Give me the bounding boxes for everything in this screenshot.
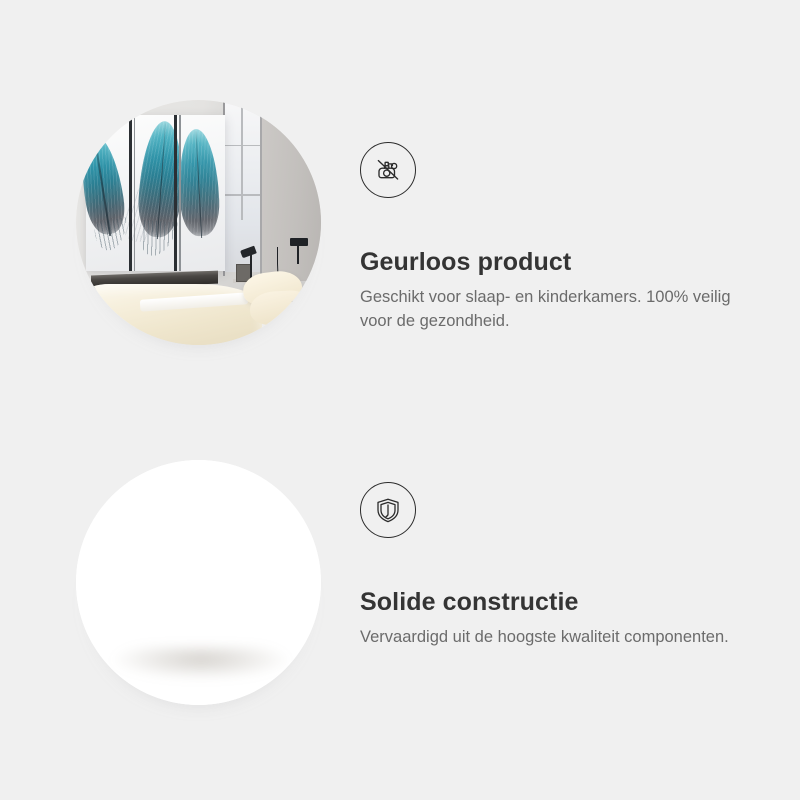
- feather-canvas-triptych: [86, 115, 226, 272]
- window: [224, 100, 261, 272]
- bedroom-scene: [76, 100, 321, 345]
- canvas-panel-edge: [134, 115, 136, 272]
- feature-image-bedroom-feather-canvas: [76, 100, 321, 345]
- pillow-front: [249, 289, 314, 327]
- canvas-panel-edge: [179, 115, 181, 272]
- feather-right: [177, 128, 222, 237]
- canvas-panel-divider: [174, 115, 177, 272]
- product-features-page: Geurloos product Geschikt voor slaap- en…: [0, 0, 800, 800]
- wooden-blocks-scene: [76, 460, 321, 705]
- pendant-lamp-head: [290, 238, 307, 245]
- feature-heading: Geurloos product: [360, 248, 760, 277]
- window-frame-right: [260, 100, 262, 276]
- feature-image-wooden-blocks: [76, 460, 321, 705]
- feature-block-solide-constructie: Solide constructie Vervaardigd uit de ho…: [0, 422, 800, 782]
- feature-description: Geschikt voor slaap- en kinderkamers. 10…: [360, 286, 750, 334]
- circular-photo-frame: [76, 100, 321, 345]
- blocks-contact-shadow: [110, 646, 291, 680]
- pendant-lamp-rod: [297, 242, 299, 264]
- feature-description: Vervaardigd uit de hoogste kwaliteit com…: [360, 626, 750, 650]
- feature-text-column: Solide constructie Vervaardigd uit de ho…: [360, 482, 760, 650]
- feather-wisps: [94, 217, 126, 253]
- no-fragrance-icon: [360, 142, 416, 198]
- circular-photo-frame: [76, 460, 321, 705]
- canvas-panel-divider: [129, 115, 132, 272]
- feather-wisps: [135, 220, 179, 257]
- window-mullion: [241, 100, 243, 220]
- shield-icon: [360, 482, 416, 538]
- feature-heading: Solide constructie: [360, 588, 760, 617]
- feature-text-column: Geurloos product Geschikt voor slaap- en…: [360, 142, 760, 334]
- feature-block-geurloos-product: Geurloos product Geschikt voor slaap- en…: [0, 62, 800, 422]
